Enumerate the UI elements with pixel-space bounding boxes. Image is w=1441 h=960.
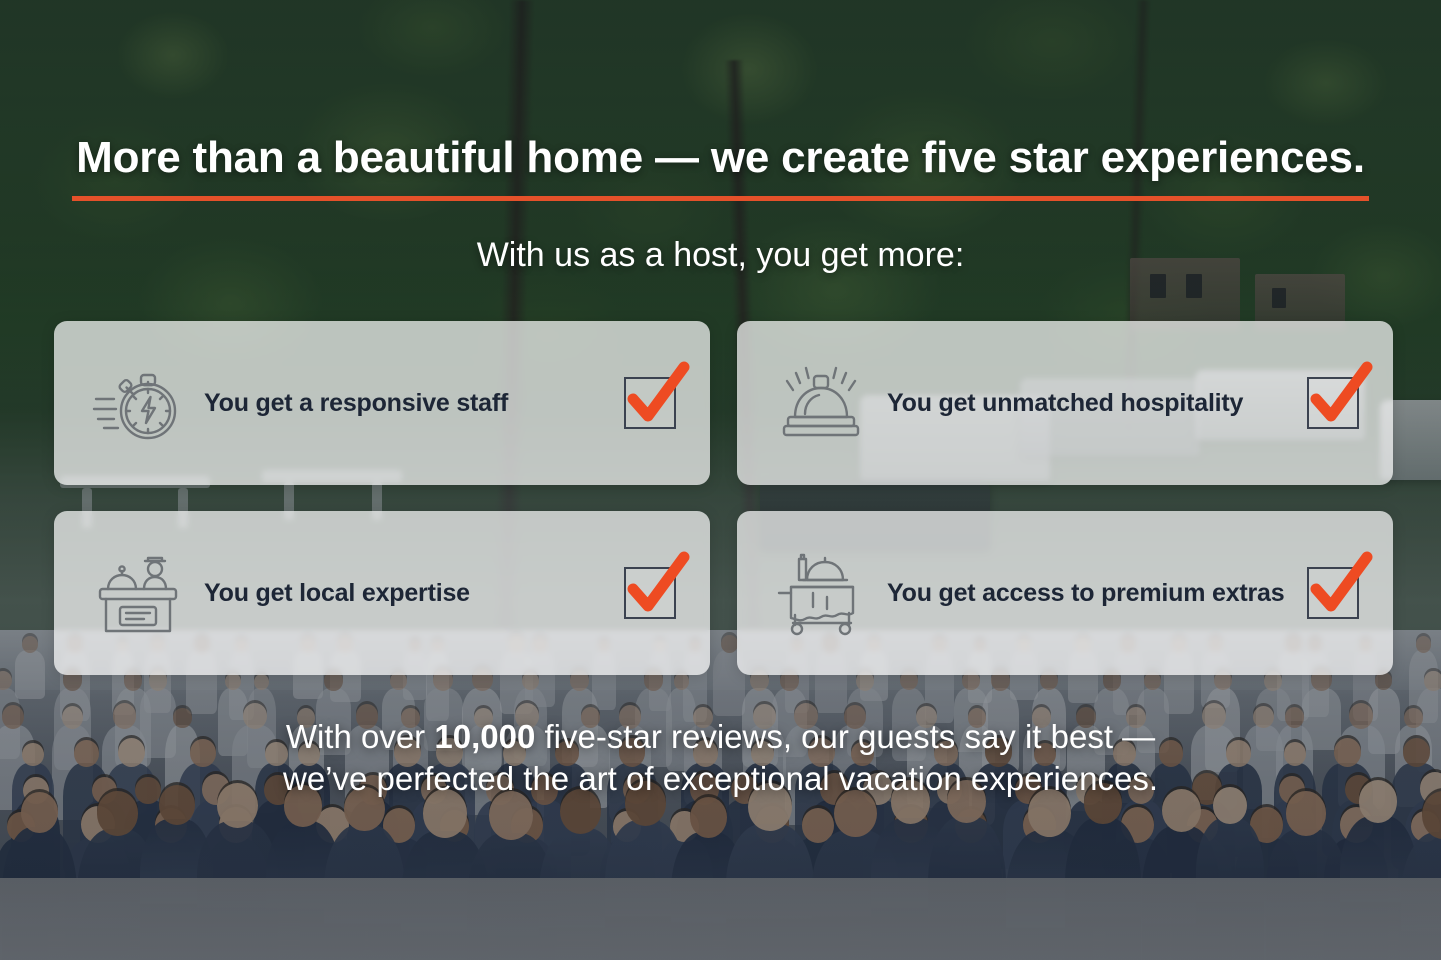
reviews-text-line2: we’ve perfected the art of exceptional v… [283,760,1158,797]
benefit-label: You get unmatched hospitality [873,389,1307,418]
checkbox-checked[interactable] [1307,377,1359,429]
benefit-label: You get local expertise [190,579,624,608]
page-headline: More than a beautiful home — we create f… [72,134,1369,201]
benefit-card-local-expertise[interactable]: You get local expertise [54,511,710,675]
stopwatch-lightning-icon [86,353,190,453]
reviews-text-after: five-star reviews, our guests say it bes… [535,718,1155,755]
reviews-statement: With over 10,000 five-star reviews, our … [0,716,1441,800]
checkbox-checked[interactable] [624,377,676,429]
benefit-card-unmatched-hospitality[interactable]: You get unmatched hospitality [737,321,1393,485]
checkbox-checked[interactable] [1307,567,1359,619]
benefit-label: You get access to premium extras [873,579,1307,608]
reviews-count: 10,000 [434,718,535,755]
reviews-text-before: With over [286,718,435,755]
room-service-cart-icon [769,543,873,643]
checkbox-checked[interactable] [624,567,676,619]
concierge-desk-icon [86,543,190,643]
page-subheadline: With us as a host, you get more: [0,236,1441,275]
hero-section: More than a beautiful home — we create f… [0,0,1441,960]
benefit-label: You get a responsive staff [190,389,624,418]
service-bell-icon [769,353,873,453]
headline-container: More than a beautiful home — we create f… [0,134,1441,201]
benefits-card-grid: You get a responsive staff [54,321,1393,675]
benefit-card-responsive-staff[interactable]: You get a responsive staff [54,321,710,485]
benefit-card-premium-extras[interactable]: You get access to premium extras [737,511,1393,675]
